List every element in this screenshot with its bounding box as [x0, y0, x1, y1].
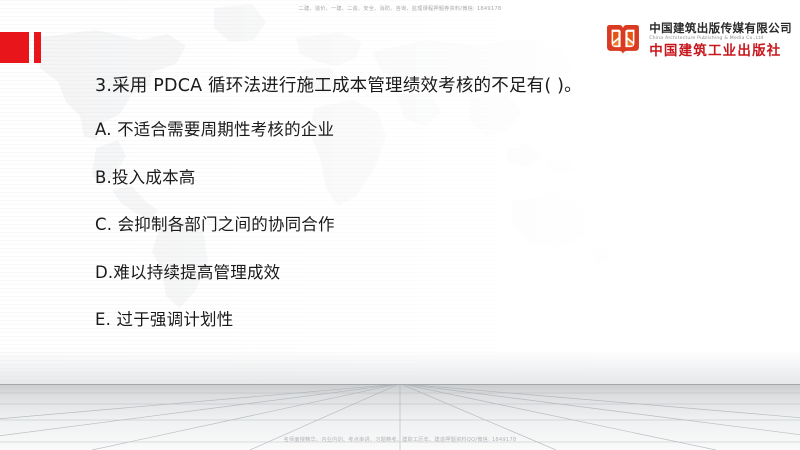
option-b[interactable]: B.投入成本高 — [95, 168, 760, 189]
logo-company-name-cn: 中国建筑出版传媒有限公司 — [649, 23, 792, 35]
footer-watermark: 名师面授精华、内业内训、考点串讲、习题精考、建职工历年、建造押题资料QQ/微信:… — [0, 436, 800, 444]
red-bar-decor — [34, 32, 41, 63]
question-content: 3.采用 PDCA 循环法进行施工成本管理绩效考核的不足有( )。 A. 不适合… — [95, 76, 760, 358]
publisher-logo: 中国建筑出版传媒有限公司 China Architecture Publishi… — [604, 22, 792, 60]
question-stem: 3.采用 PDCA 循环法进行施工成本管理绩效考核的不足有( )。 — [95, 76, 760, 98]
presentation-slide: 二建、造价、一建、二造、安全、消防、咨询、监理课程押题券资料/微信: 18491… — [0, 0, 800, 450]
open-book-logo-icon — [604, 22, 642, 60]
logo-press-name-cn: 中国建筑工业出版社 — [649, 45, 792, 59]
option-c[interactable]: C. 会抑制各部门之间的协同合作 — [95, 215, 760, 236]
option-d[interactable]: D.难以持续提高管理成效 — [95, 263, 760, 284]
option-e[interactable]: E. 过于强调计划性 — [95, 310, 760, 331]
option-a[interactable]: A. 不适合需要周期性考核的企业 — [95, 120, 760, 141]
logo-company-name-en: China Architecture Publishing & Media Co… — [649, 37, 792, 42]
publisher-logo-text: 中国建筑出版传媒有限公司 China Architecture Publishi… — [649, 23, 792, 58]
red-square-decor — [0, 32, 29, 63]
header-watermark: 二建、造价、一建、二造、安全、消防、咨询、监理课程押题券资料/微信: 18491… — [0, 5, 800, 13]
